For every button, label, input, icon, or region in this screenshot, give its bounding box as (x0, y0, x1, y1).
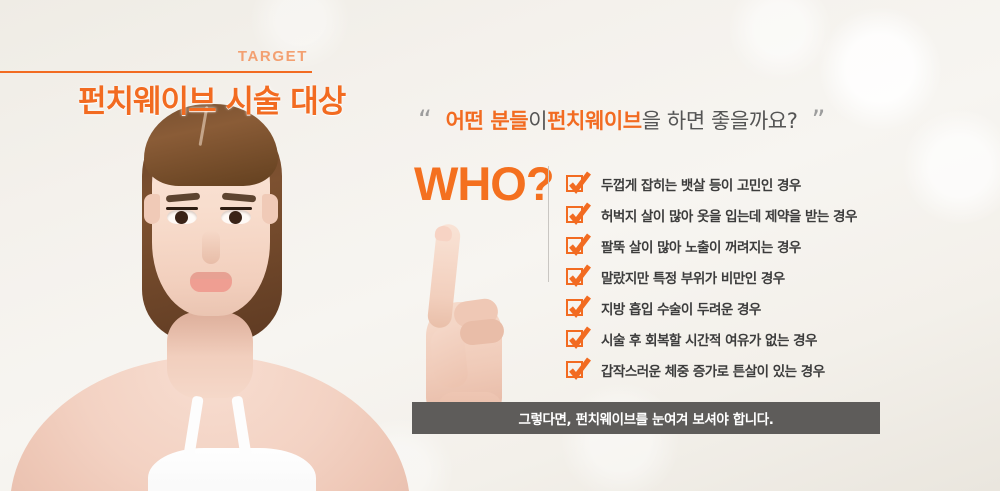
page-title: 펀치웨이브 시술 대상 (78, 76, 345, 121)
title-block: TARGET 펀치웨이브 시술 대상 (0, 46, 330, 118)
checklist-item-label: 지방 흡입 수술이 두려운 경우 (601, 298, 761, 318)
title-divider-rule (0, 71, 312, 73)
list-item: 팔뚝 살이 많아 노출이 꺼려지는 경우 (566, 230, 966, 261)
model-camisole-body (148, 448, 316, 491)
quote-accent-1: 어떤 분들 (446, 105, 529, 135)
cta-text: 그렇다면, 펀치웨이브를 눈여겨 보셔야 합니다. (518, 408, 773, 428)
quote-open-mark: “ (418, 107, 432, 134)
checkmark-icon (566, 206, 583, 223)
hand-index-nail (434, 225, 452, 242)
list-item: 말랐지만 특정 부위가 비만인 경우 (566, 261, 966, 292)
checklist-item-label: 말랐지만 특정 부위가 비만인 경우 (601, 267, 785, 287)
model-neck-shadow (167, 312, 253, 356)
list-item: 시술 후 회복할 시간적 여유가 없는 경우 (566, 323, 966, 354)
checklist-item-label: 허벅지 살이 많아 옷을 입는데 제약을 받는 경우 (601, 205, 857, 225)
cta-banner: 그렇다면, 펀치웨이브를 눈여겨 보셔야 합니다. (412, 402, 880, 434)
quote-close-mark: ” (811, 107, 825, 134)
pointing-hand-icon (404, 216, 536, 416)
checkmark-icon (566, 299, 583, 316)
who-label: WHO? (414, 156, 554, 211)
model-iris-left (175, 211, 188, 224)
model-ear-left (144, 194, 160, 224)
checklist-item-label: 시술 후 회복할 시간적 여유가 없는 경우 (601, 329, 817, 349)
list-item: 갑작스러운 체중 증가로 튼살이 있는 경우 (566, 354, 966, 385)
model-nose (202, 230, 220, 264)
checklist-item-label: 팔뚝 살이 많아 노출이 꺼려지는 경우 (601, 236, 801, 256)
model-iris-right (229, 211, 242, 224)
checklist: 두껍게 잡히는 뱃살 등이 고민인 경우 허벅지 살이 많아 옷을 입는데 제약… (566, 168, 966, 385)
checklist-item-label: 갑작스러운 체중 증가로 튼살이 있는 경우 (601, 360, 825, 380)
quote-plain-1: 이 (528, 105, 547, 135)
list-item: 두껍게 잡히는 뱃살 등이 고민인 경우 (566, 168, 966, 199)
checkmark-icon (566, 330, 583, 347)
model-lash-left (166, 207, 198, 210)
quote-accent-2: 펀치웨이브 (547, 105, 642, 135)
model-lip-lower (190, 279, 232, 292)
vertical-divider (548, 166, 549, 282)
target-kicker-label: TARGET (238, 48, 308, 65)
list-item: 허벅지 살이 많아 옷을 입는데 제약을 받는 경우 (566, 199, 966, 230)
promo-banner: TARGET 펀치웨이브 시술 대상 “ 어떤 분들 이 펀치웨이브 을 하면 … (0, 0, 1000, 491)
checkmark-icon (566, 237, 583, 254)
checkmark-icon (566, 361, 583, 378)
model-ear-right (262, 194, 278, 224)
checkmark-icon (566, 268, 583, 285)
model-lash-right (220, 207, 252, 210)
quote-headline: “ 어떤 분들 이 펀치웨이브 을 하면 좋을까요? ” (418, 100, 964, 140)
checklist-item-label: 두껍게 잡히는 뱃살 등이 고민인 경우 (601, 174, 801, 194)
quote-plain-2: 을 하면 좋을까요? (642, 105, 798, 135)
list-item: 지방 흡입 수술이 두려운 경우 (566, 292, 966, 323)
checkmark-icon (566, 175, 583, 192)
